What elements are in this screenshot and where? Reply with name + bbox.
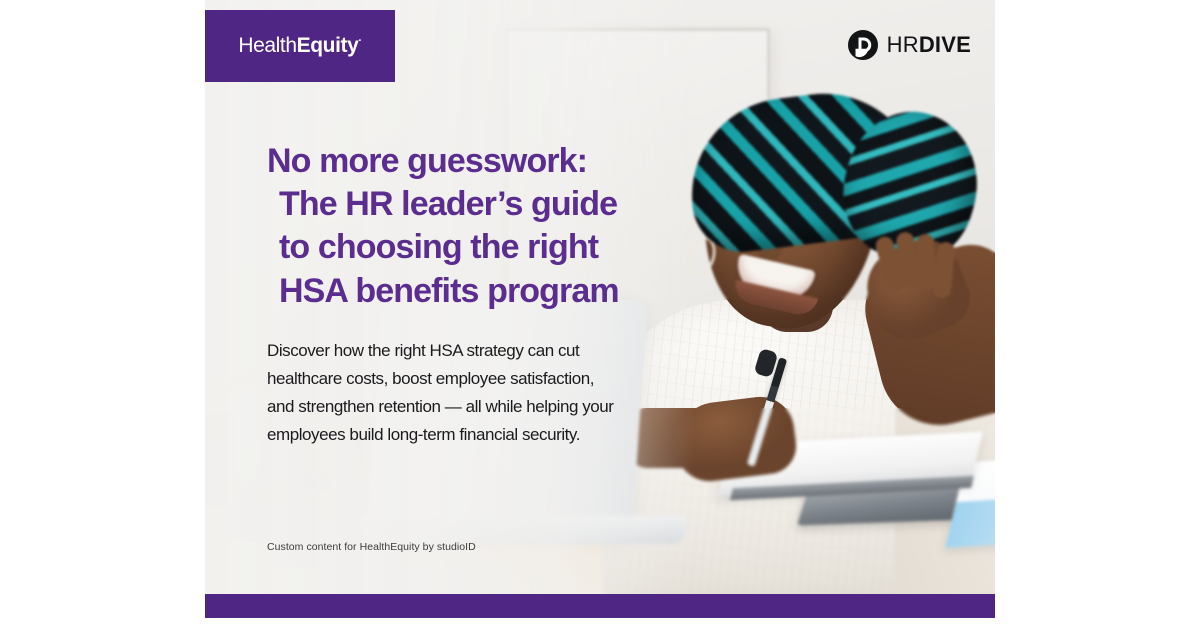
headline-line-3: to choosing the right (267, 226, 737, 269)
headline-line-2: The HR leader’s guide (267, 183, 737, 226)
headline-line-1: No more guesswork: (267, 140, 737, 183)
subhead-line-3: and strengthen retention — all while hel… (267, 393, 737, 421)
hrdive-logo: HRDIVE (848, 30, 971, 60)
subheadline: Discover how the right HSA strategy can … (267, 337, 737, 449)
headline-line-4: HSA benefits program (267, 270, 737, 313)
hrdive-logo-hr: HR (887, 32, 919, 57)
hrdive-logo-text: HRDIVE (887, 32, 971, 58)
subhead-line-1: Discover how the right HSA strategy can … (267, 337, 737, 365)
promo-card-page: HealthEquity· HRDIVE No more guesswork: … (0, 0, 1200, 630)
hrdive-logo-dive: DIVE (919, 32, 971, 57)
healthequity-logo-trademark: · (358, 35, 361, 47)
healthequity-logo: HealthEquity· (205, 10, 395, 82)
copy-block: No more guesswork: The HR leader’s guide… (267, 140, 737, 449)
promo-card: HealthEquity· HRDIVE No more guesswork: … (205, 0, 995, 618)
subhead-line-4: employees build long-term financial secu… (267, 421, 737, 449)
healthequity-logo-health: Health (238, 34, 296, 57)
custom-content-credit: Custom content for HealthEquity by studi… (267, 541, 476, 553)
page-title: No more guesswork: The HR leader’s guide… (267, 140, 737, 313)
hrdive-circle-d-icon (848, 30, 878, 60)
subhead-line-2: healthcare costs, boost employee satisfa… (267, 365, 737, 393)
healthequity-logo-equity: Equity (297, 34, 359, 57)
footer-accent-bar (205, 594, 995, 618)
healthequity-logo-text: HealthEquity· (238, 34, 361, 58)
